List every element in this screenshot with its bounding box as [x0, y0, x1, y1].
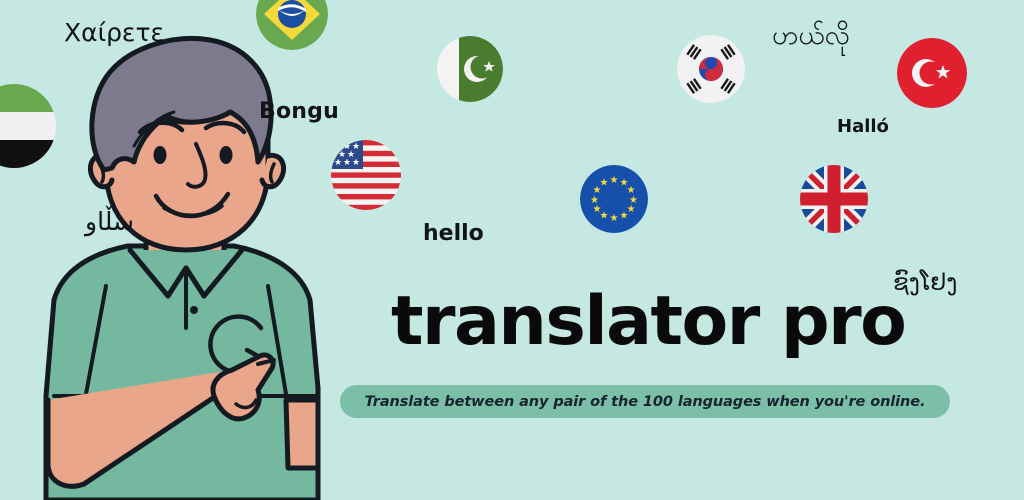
- svg-text:★: ★: [600, 178, 609, 189]
- flag-pakistan: [437, 36, 503, 102]
- greeting-icelandic: Halló: [837, 118, 889, 136]
- greeting-english: hello: [423, 223, 484, 245]
- subtitle-pill: Translate between any pair of the 100 la…: [340, 385, 950, 418]
- flag-south-korea: [677, 35, 745, 103]
- svg-text:★: ★: [610, 175, 619, 186]
- greeting-maltese: Bongu: [259, 101, 339, 123]
- greeting-burmese: ဟယ်လို: [772, 22, 850, 49]
- app-subtitle: Translate between any pair of the 100 la…: [365, 394, 926, 410]
- greeting-greek: Χαίρετε: [64, 20, 164, 45]
- flag-european-union: ★ ★ ★ ★ ★ ★ ★ ★ ★ ★ ★ ★: [580, 165, 648, 233]
- svg-text:★: ★: [610, 213, 619, 224]
- greeting-kurdish: سڵاو: [85, 209, 134, 234]
- svg-text:★: ★: [620, 211, 629, 222]
- title-block: translator pro: [391, 288, 905, 356]
- svg-text:★: ★: [590, 195, 599, 206]
- flag-turkey: [897, 38, 967, 108]
- flag-united-kingdom: [800, 165, 868, 233]
- app-title: translator pro: [391, 288, 905, 356]
- app-feature-banner: ★ ★ ★ ★ ★ ★ ★ ★ ★ ★ ★ ★ ★ ★: [0, 0, 1024, 500]
